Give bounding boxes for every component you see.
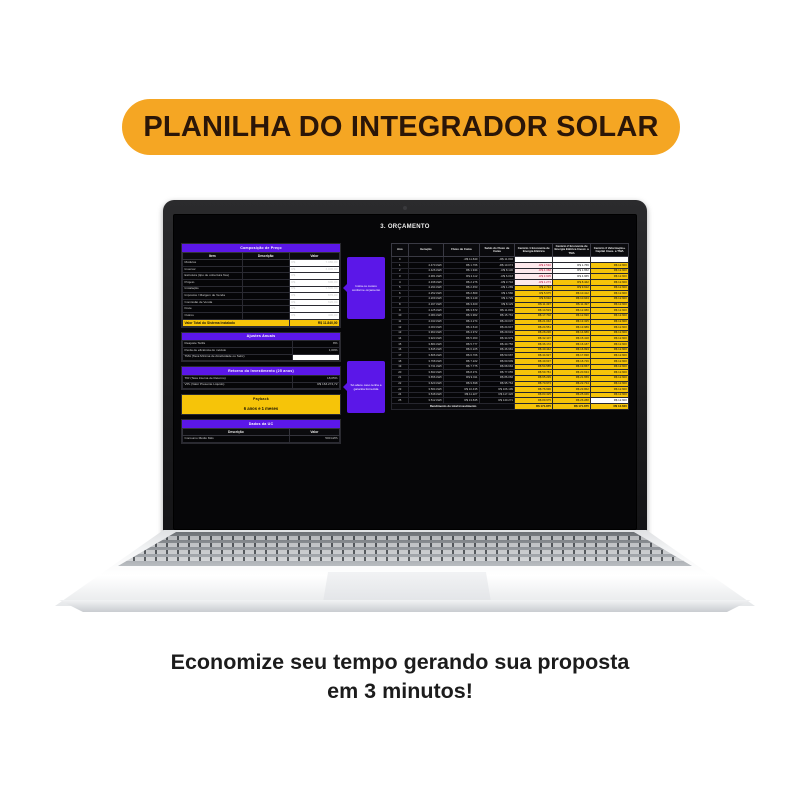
footer-value-3: R$ 12.600 xyxy=(591,404,629,410)
dados-uc-header: Dados da UC xyxy=(182,420,340,428)
col-cenario-3: Cenário 3 Valorização+ Capital Inves. a … xyxy=(591,244,629,257)
composicao-header-row: Item Descrição Valor xyxy=(183,252,340,259)
fluxo-body: 0-R$ 11.840-R$ 11.84014.470 kWhR$ 1.766-… xyxy=(392,257,629,404)
cell-descricao xyxy=(242,313,289,320)
table-row: TMA (Taxa Mínima de Atratividade ou Seli… xyxy=(183,354,340,361)
cell-descricao xyxy=(242,266,289,273)
cell-value: 8% xyxy=(292,341,339,348)
cell-valor[interactable]: R$3.000,00 xyxy=(289,266,339,273)
cell-value: 500 kWh xyxy=(289,436,339,443)
ajustes-body: Reajuste Tarifa8%Perda de eficiência do … xyxy=(183,341,340,361)
cell-label: Consumo Médio Mês xyxy=(183,436,290,443)
table-row: Reajuste Tarifa8% xyxy=(183,341,340,348)
cell-descricao xyxy=(242,306,289,313)
callout-custos: Insira os custos conforme orçamento xyxy=(347,257,385,319)
left-panel: Composição de Preço Item Descrição Valor… xyxy=(181,243,341,524)
caption-line-1: Economize seu tempo gerando sua proposta xyxy=(0,648,800,677)
promo-page: PLANILHA DO INTEGRADOR SOLAR 3. ORÇAMENT… xyxy=(0,0,800,800)
payback-block: Payback 6 anos e 1 meses xyxy=(181,394,341,415)
retorno-investimento-block: Retorno do Investimento (25 anos) TIR (T… xyxy=(181,366,341,390)
payback-value: 6 anos e 1 meses xyxy=(182,403,340,414)
table-row: InstalaçãoR$1.500,00 xyxy=(183,286,340,293)
cell-value: 18,05% xyxy=(292,375,339,382)
table-row: FreteR$ xyxy=(183,306,340,313)
col-uc-valor: Valor xyxy=(289,428,339,435)
table-row: MódulosR$7.080,00 xyxy=(183,259,340,266)
col-ano: Ano xyxy=(392,244,409,257)
callout-garantia-text: Só altere caso tenha a garantia fornecid… xyxy=(350,383,382,391)
cell-valor[interactable]: R$ xyxy=(289,273,339,280)
laptop-lid: 3. ORÇAMENTO Composição de Preço Item De… xyxy=(163,200,647,540)
cell-valor[interactable]: R$670,00 xyxy=(289,293,339,300)
cell-valor[interactable]: R$400,00 xyxy=(289,313,339,320)
cell-label: Perda de eficiência do módulo xyxy=(183,347,293,354)
composicao-table: Item Descrição Valor MódulosR$7.080,00In… xyxy=(182,252,340,327)
laptop-base-edge xyxy=(55,600,755,612)
col-valor: Valor xyxy=(289,252,339,259)
col-item: Item xyxy=(183,252,243,259)
cell-item: Frete xyxy=(183,306,243,313)
col-saldo: Saldo do Fluxo de Caixa xyxy=(479,244,515,257)
keyboard-row xyxy=(69,543,741,547)
cell-item: Comissão de Venda xyxy=(183,299,243,306)
table-row: TIR (Taxa Interna de Retorno)18,05% xyxy=(183,375,340,382)
laptop-screen: 3. ORÇAMENTO Composição de Preço Item De… xyxy=(173,214,637,530)
fluxo-header-row: Ano Geração Fluxo de Caixa Saldo do Flux… xyxy=(392,244,629,257)
cell-value: R$ 163.274,72 xyxy=(292,382,339,389)
callout-garantia: Só altere caso tenha a garantia fornecid… xyxy=(347,361,385,413)
footer-label: Rendimento do total investimento xyxy=(392,404,515,410)
ajustes-header: Ajustes Anuais xyxy=(182,333,340,341)
cell-value[interactable] xyxy=(292,354,339,361)
fluxo-caixa-panel: Ano Geração Fluxo de Caixa Saldo do Flux… xyxy=(391,243,629,524)
spreadsheet: 3. ORÇAMENTO Composição de Preço Item De… xyxy=(174,215,636,529)
cell-item: Projeto xyxy=(183,279,243,286)
payback-header: Payback xyxy=(182,395,340,403)
callouts-column: Insira os custos conforme orçamento Só a… xyxy=(345,243,387,524)
cell-descricao xyxy=(242,299,289,306)
cell-item: Estrutura (tipo de cobertura fixa) xyxy=(183,273,243,280)
cell-label: VPL (Valor Presente Líquido) xyxy=(183,382,293,389)
col-descricao: Descrição xyxy=(242,252,289,259)
total-value: R$ 11.840,00 xyxy=(289,319,339,326)
composicao-body: MódulosR$7.080,00InversorR$3.000,00Estru… xyxy=(183,259,340,326)
cell-descricao xyxy=(242,293,289,300)
laptop-mockup: 3. ORÇAMENTO Composição de Preço Item De… xyxy=(55,200,755,630)
table-row: Perda de eficiência do módulo1,00% xyxy=(183,347,340,354)
cell-descricao xyxy=(242,279,289,286)
col-uc-descricao: Descrição xyxy=(183,428,290,435)
retorno-body: TIR (Taxa Interna de Retorno)18,05%VPL (… xyxy=(183,375,340,388)
retorno-header: Retorno do Investimento (25 anos) xyxy=(182,367,340,375)
cell-item: Inversor xyxy=(183,266,243,273)
cell-label: TIR (Taxa Interna de Retorno) xyxy=(183,375,293,382)
table-row: Estrutura (tipo de cobertura fixa)R$ xyxy=(183,273,340,280)
table-row: VPL (Valor Presente Líquido)R$ 163.274,7… xyxy=(183,382,340,389)
headline-text: PLANILHA DO INTEGRADOR SOLAR xyxy=(143,111,658,144)
dados-uc-header-row: Descrição Valor xyxy=(183,428,340,435)
keyboard-row xyxy=(69,536,741,540)
cell-label: TMA (Taxa Mínima de Atratividade ou Seli… xyxy=(183,354,293,361)
footer-value-2: R$ 171.875 xyxy=(553,404,591,410)
col-fluxo: Fluxo de Caixa xyxy=(444,244,480,257)
cell-item: Outros xyxy=(183,313,243,320)
col-cenario-2: Cenário 2 Economia de Energia Elétrica I… xyxy=(553,244,591,257)
dados-uc-block: Dados da UC Descrição Valor Consumo Médi… xyxy=(181,419,341,444)
total-row: Valor Total do Sistema InstaladoR$ 11.84… xyxy=(183,319,340,326)
cell-descricao xyxy=(242,273,289,280)
ajustes-table: Reajuste Tarifa8%Perda de eficiência do … xyxy=(182,340,340,361)
keyboard-row xyxy=(69,550,741,554)
footer-value-1: R$ 171.875 xyxy=(515,404,553,410)
col-cenario-1: Cenário 1 Economia de Energia Elétrica xyxy=(515,244,553,257)
laptop-trackpad[interactable] xyxy=(323,572,491,602)
cell-value: 1,00% xyxy=(292,347,339,354)
callout-custos-text: Insira os custos conforme orçamento xyxy=(350,284,382,292)
headline-banner: PLANILHA DO INTEGRADOR SOLAR xyxy=(122,99,680,155)
cell-valor[interactable]: R$600,00 xyxy=(289,279,339,286)
table-row: Impostos / Margem de VendaR$670,00 xyxy=(183,293,340,300)
fluxo-footer: Rendimento do total investimentoR$ 171.8… xyxy=(392,404,629,410)
dados-uc-body: Consumo Médio Mês500 kWh xyxy=(183,436,340,443)
cell-valor[interactable]: R$7.080,00 xyxy=(289,259,339,266)
sheet-title: 3. ORÇAMENTO xyxy=(174,215,636,232)
table-row: OutrosR$400,00 xyxy=(183,313,340,320)
table-row: Consumo Médio Mês500 kWh xyxy=(183,436,340,443)
cell-descricao xyxy=(242,259,289,266)
ajustes-anuais-block: Ajustes Anuais Reajuste Tarifa8%Perda de… xyxy=(181,332,341,363)
table-row: ProjetoR$600,00 xyxy=(183,279,340,286)
retorno-table: TIR (Taxa Interna de Retorno)18,05%VPL (… xyxy=(182,375,340,389)
composicao-de-preco-block: Composição de Preço Item Descrição Valor… xyxy=(181,243,341,328)
cell-item: Impostos / Margem de Venda xyxy=(183,293,243,300)
keyboard-row xyxy=(69,557,741,561)
total-label: Valor Total do Sistema Instalado xyxy=(183,319,290,326)
cell-item: Instalação xyxy=(183,286,243,293)
table-row: InversorR$3.000,00 xyxy=(183,266,340,273)
caption-line-2: em 3 minutos! xyxy=(0,677,800,706)
footer-row: Rendimento do total investimentoR$ 171.8… xyxy=(392,404,629,410)
promo-caption: Economize seu tempo gerando sua proposta… xyxy=(0,648,800,706)
cell-valor[interactable]: R$1.500,00 xyxy=(289,286,339,293)
cell-label: Reajuste Tarifa xyxy=(183,341,293,348)
dados-uc-table: Descrição Valor Consumo Médio Mês500 kWh xyxy=(182,428,340,443)
cell-item: Módulos xyxy=(183,259,243,266)
table-row: Comissão de VendaR$620,00 xyxy=(183,299,340,306)
cell-valor[interactable]: R$ xyxy=(289,306,339,313)
cell-valor[interactable]: R$620,00 xyxy=(289,299,339,306)
cell-descricao xyxy=(242,286,289,293)
composicao-header: Composição de Preço xyxy=(182,244,340,252)
col-geracao: Geração xyxy=(408,244,444,257)
fluxo-caixa-table: Ano Geração Fluxo de Caixa Saldo do Flux… xyxy=(391,243,629,410)
